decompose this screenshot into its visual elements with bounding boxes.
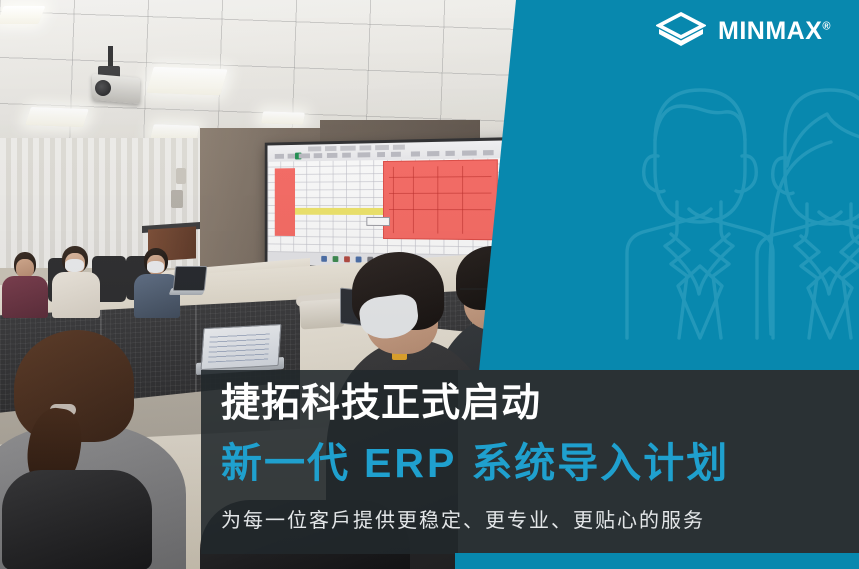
laptop-screen bbox=[173, 266, 208, 291]
spreadsheet-selected-cell bbox=[366, 217, 390, 226]
headline-line-1: 捷拓科技正式启动 bbox=[221, 382, 541, 426]
wall-sensor bbox=[176, 168, 186, 184]
spreadsheet-highlight-block bbox=[383, 159, 498, 240]
attendee-body bbox=[52, 272, 100, 318]
headline-line-2-erp: ERP bbox=[350, 440, 471, 486]
brand-name: MINMAX® bbox=[718, 17, 831, 46]
wall-speaker bbox=[171, 190, 183, 208]
brand-blue-panel bbox=[479, 0, 859, 371]
headline-line-2-prefix: 新一代 bbox=[221, 440, 350, 486]
desk-phone bbox=[299, 298, 345, 329]
trademark-symbol: ® bbox=[822, 20, 831, 32]
spreadsheet-highlight-column bbox=[275, 168, 295, 236]
ceiling-light bbox=[0, 6, 46, 24]
bottom-accent-bar bbox=[455, 553, 859, 569]
laptop-screen bbox=[201, 324, 282, 370]
ceiling-light bbox=[261, 111, 305, 124]
office-chair-foreground bbox=[2, 470, 152, 569]
banner-subtitle: 为每一位客戶提供更稳定、更专业、更贴心的服务 bbox=[221, 508, 705, 534]
brand-logo: MINMAX® bbox=[656, 12, 831, 50]
headline-line-2-suffix: 系统导入计划 bbox=[471, 440, 729, 486]
promo-banner: 捷拓科技正式启动 新一代ERP系统导入计划 为每一位客戶提供更稳定、更专业、更贴… bbox=[0, 0, 859, 569]
brand-name-text: MINMAX bbox=[718, 17, 822, 45]
face-mask bbox=[147, 261, 164, 273]
minmax-diamond-logo-icon bbox=[656, 12, 706, 50]
spreadsheet-highlight-row bbox=[295, 208, 383, 215]
attendee-body bbox=[2, 276, 48, 318]
projector-lens bbox=[95, 80, 111, 96]
ceiling-light bbox=[25, 107, 89, 127]
face-mask bbox=[65, 259, 84, 272]
headline-line-2: 新一代ERP系统导入计划 bbox=[221, 441, 729, 487]
two-business-people-outline-icon bbox=[559, 38, 859, 358]
ceiling-light bbox=[146, 67, 227, 96]
